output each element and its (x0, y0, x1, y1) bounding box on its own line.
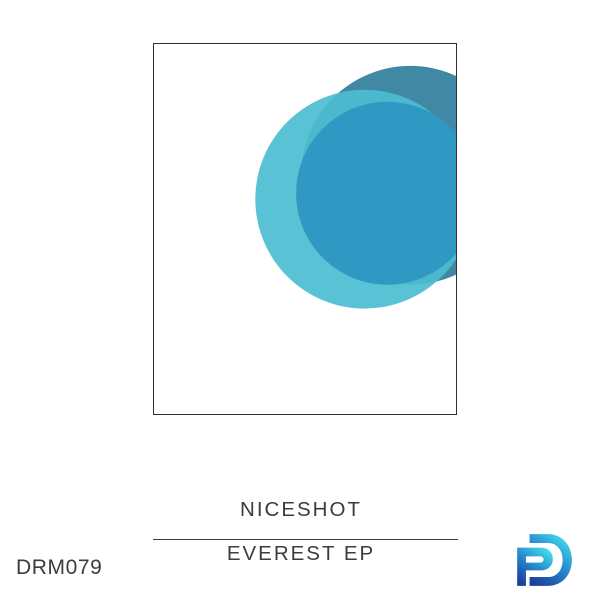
title-divider (153, 539, 458, 540)
pd-monogram-logo[interactable] (512, 531, 574, 589)
catalog-number: DRM079 (16, 556, 102, 580)
artwork-circles-graphic (154, 44, 456, 414)
artwork-frame (153, 43, 457, 415)
artist-name: NICESHOT (0, 495, 600, 525)
